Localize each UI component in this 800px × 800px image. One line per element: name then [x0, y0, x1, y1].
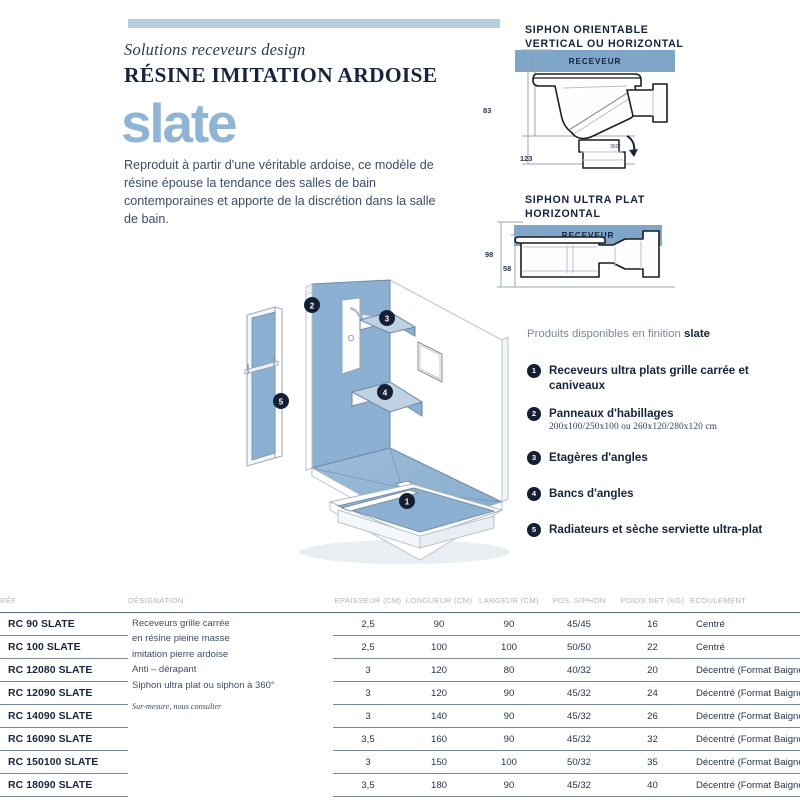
cell-poids: 20 [615, 659, 690, 682]
col-header-longueur: LONGUEUR (CM) [403, 596, 475, 613]
cell-ref: RC 12090 SLATE [0, 682, 128, 705]
cell-ecoulement: Décentré (Format Baignoire) [690, 728, 800, 751]
cell-largeur: 90 [475, 728, 543, 751]
designation-note: Sur-mesure, nous consulter [132, 693, 333, 711]
siphon-orientable-height-dim: 83 [483, 106, 491, 115]
cell-poids: 26 [615, 705, 690, 728]
legend-intro: Produits disponibles en finition slate [527, 327, 792, 343]
illustration-marker-4: 4 [377, 384, 393, 400]
cell-epaisseur: 2,5 [333, 636, 403, 659]
product-table: RÉF DÉSIGNATION EPAISSEUR (CM) LONGUEUR … [0, 596, 800, 797]
legend-badge-2: 2 [527, 407, 541, 421]
cell-longueur: 120 [403, 682, 475, 705]
svg-text:3: 3 [385, 315, 390, 324]
legend-badge-1: 1 [527, 364, 541, 378]
cell-largeur: 90 [475, 613, 543, 636]
cell-ecoulement: Décentré (Format Baignoire) [690, 774, 800, 797]
cell-ref: RC 90 SLATE [0, 613, 128, 636]
cell-pos-siphon: 45/32 [543, 705, 615, 728]
svg-text:4: 4 [383, 389, 388, 398]
cell-poids: 40 [615, 774, 690, 797]
cell-ref: RC 12080 SLATE [0, 659, 128, 682]
illustration-marker-3: 3 [379, 310, 395, 326]
cell-poids: 22 [615, 636, 690, 659]
cell-longueur: 90 [403, 613, 475, 636]
cell-longueur: 180 [403, 774, 475, 797]
siphon-orientable-width-dim: 123 [520, 154, 532, 163]
cell-ref: RC 150100 SLATE [0, 751, 128, 774]
cell-longueur: 100 [403, 636, 475, 659]
siphon-ultraplat-outer-dim: 98 [485, 250, 493, 259]
cell-epaisseur: 3 [333, 682, 403, 705]
cell-ref: RC 100 SLATE [0, 636, 128, 659]
cell-ecoulement: Décentré (Format Baignoire) [690, 659, 800, 682]
legend-intro-text: Produits disponibles en finition [527, 328, 684, 340]
col-header-ecoulement: ECOULEMENT [690, 596, 800, 613]
legend-label-3: Etagères d'angles [549, 450, 792, 465]
legend-item-4: 4 Bancs d'angles [527, 486, 792, 504]
legend-label-5: Radiateurs et sèche serviette ultra-plat [549, 522, 792, 537]
table-row[interactable]: RC 12090 SLATE 3 120 90 45/32 24 Décentr… [0, 682, 800, 705]
svg-text:2: 2 [310, 302, 315, 311]
svg-text:1: 1 [405, 498, 410, 507]
legend-label-1: Receveurs ultra plats grille carrée et c… [549, 363, 792, 393]
cell-longueur: 160 [403, 728, 475, 751]
illustration-marker-1: 1 [399, 493, 415, 509]
brand-logo: slate [121, 96, 484, 151]
table-row[interactable]: RC 150100 SLATE 3 150 100 50/32 35 Décen… [0, 751, 800, 774]
cell-ecoulement: Décentré (Format Baignoire) [690, 682, 800, 705]
cell-longueur: 140 [403, 705, 475, 728]
table-row[interactable]: RC 12080 SLATE 3 120 80 40/32 20 Décentr… [0, 659, 800, 682]
header-accent-bar [128, 19, 500, 28]
legend-badge-3: 3 [527, 451, 541, 465]
product-table-wrapper: RÉF DÉSIGNATION EPAISSEUR (CM) LONGUEUR … [0, 596, 800, 797]
cell-epaisseur: 2,5 [333, 613, 403, 636]
siphon-ultraplat-title-line1: SIPHON ULTRA PLAT [525, 194, 795, 208]
shower-illustration-svg: 2 3 4 1 5 [230, 270, 530, 570]
cell-epaisseur: 3,5 [333, 728, 403, 751]
legend-item-5: 5 Radiateurs et sèche serviette ultra-pl… [527, 522, 792, 540]
cell-epaisseur: 3 [333, 751, 403, 774]
cell-largeur: 80 [475, 659, 543, 682]
cell-ecoulement: Décentré (Format Baignoire) [690, 751, 800, 774]
cell-largeur: 100 [475, 751, 543, 774]
hero-eyebrow: Solutions receveurs design [124, 40, 484, 60]
designation-line-1: Receveurs grille carrée [132, 616, 333, 631]
siphon-orientable-diagram: SIPHON ORIENTABLE VERTICAL OU HORIZONTAL… [525, 24, 795, 184]
designation-text: Receveurs grille carrée en résine pleine… [132, 613, 333, 693]
cell-poids: 24 [615, 682, 690, 705]
legend-badge-5: 5 [527, 523, 541, 537]
table-row[interactable]: RC 16090 SLATE 3,5 160 90 45/32 32 Décen… [0, 728, 800, 751]
legend-item-1: 1 Receveurs ultra plats grille carrée et… [527, 363, 792, 393]
legend-label-2: Panneaux d'habillages [549, 406, 792, 421]
cell-pos-siphon: 45/32 [543, 682, 615, 705]
cell-pos-siphon: 50/50 [543, 636, 615, 659]
cell-largeur: 90 [475, 774, 543, 797]
shower-illustration: 2 3 4 1 5 [230, 270, 530, 570]
cell-longueur: 150 [403, 751, 475, 774]
product-table-body: RC 90 SLATE Receveurs grille carrée en r… [0, 613, 800, 797]
cell-designation: Receveurs grille carrée en résine pleine… [128, 613, 333, 797]
cell-pos-siphon: 45/32 [543, 728, 615, 751]
cell-longueur: 120 [403, 659, 475, 682]
rotation-angle-label: 360° [610, 144, 621, 150]
cell-pos-siphon: 50/32 [543, 751, 615, 774]
illustration-marker-2: 2 [304, 297, 320, 313]
product-table-head: RÉF DÉSIGNATION EPAISSEUR (CM) LONGUEUR … [0, 596, 800, 613]
legend-block: Produits disponibles en finition slate 1… [527, 327, 792, 553]
table-row[interactable]: RC 90 SLATE Receveurs grille carrée en r… [0, 613, 800, 636]
table-row[interactable]: RC 14090 SLATE 3 140 90 45/32 26 Décentr… [0, 705, 800, 728]
cell-pos-siphon: 45/45 [543, 613, 615, 636]
cell-epaisseur: 3,5 [333, 774, 403, 797]
cell-ecoulement: Centré [690, 636, 800, 659]
cell-poids: 32 [615, 728, 690, 751]
hero-block: Solutions receveurs design RÉSINE IMITAT… [124, 40, 484, 229]
table-row[interactable]: RC 18090 SLATE 3,5 180 90 45/32 40 Décen… [0, 774, 800, 797]
svg-text:5: 5 [279, 398, 284, 407]
siphon-ultra-plat-diagram: SIPHON ULTRA PLAT HORIZONTAL RECEVEUR 98 [525, 194, 795, 304]
cell-largeur: 90 [475, 682, 543, 705]
cell-ref: RC 14090 SLATE [0, 705, 128, 728]
legend-label-4: Bancs d'angles [549, 486, 792, 501]
col-header-poids-net: POIDS NET (KG) [615, 596, 690, 613]
col-header-largeur: LARGEUR (CM) [475, 596, 543, 613]
col-header-pos-siphon: POS. SIPHON [543, 596, 615, 613]
siphon-orientable-drawing [475, 44, 745, 179]
col-header-designation: DÉSIGNATION [128, 596, 333, 613]
illustration-marker-5: 5 [273, 393, 289, 409]
cell-largeur: 90 [475, 705, 543, 728]
col-header-ref: RÉF [0, 596, 128, 613]
cell-pos-siphon: 45/32 [543, 774, 615, 797]
cell-epaisseur: 3 [333, 705, 403, 728]
legend-sublabel-2: 200x100/250x100 ou 260x120/280x120 cm [549, 422, 792, 432]
designation-line-4: Anti – dérapant [132, 662, 333, 677]
legend-badge-4: 4 [527, 487, 541, 501]
hero-description: Reproduit à partir d'une véritable ardoi… [124, 157, 449, 229]
legend-item-2: 2 Panneaux d'habillages 200x100/250x100 … [527, 406, 792, 432]
siphon-orientable-title-line1: SIPHON ORIENTABLE [525, 24, 795, 38]
cell-largeur: 100 [475, 636, 543, 659]
cell-ecoulement: Décentré (Format Baignoire) [690, 705, 800, 728]
cell-poids: 35 [615, 751, 690, 774]
cell-ref: RC 16090 SLATE [0, 728, 128, 751]
designation-line-5: Siphon ultra plat ou siphon à 360° [132, 678, 333, 693]
cell-pos-siphon: 40/32 [543, 659, 615, 682]
legend-item-3: 3 Etagères d'angles [527, 450, 792, 468]
cell-epaisseur: 3 [333, 659, 403, 682]
designation-line-2: en résine pleine masse [132, 631, 333, 646]
designation-line-3: imitation pierre ardoise [132, 647, 333, 662]
cell-ref: RC 18090 SLATE [0, 774, 128, 797]
cell-ecoulement: Centré [690, 613, 800, 636]
col-header-epaisseur: EPAISSEUR (CM) [333, 596, 403, 613]
catalog-page: Solutions receveurs design RÉSINE IMITAT… [0, 0, 800, 800]
page-title: RÉSINE IMITATION ARDOISE [124, 63, 484, 88]
table-row[interactable]: RC 100 SLATE 2,5 100 100 50/50 22 Centré [0, 636, 800, 659]
product-table-header-row: RÉF DÉSIGNATION EPAISSEUR (CM) LONGUEUR … [0, 596, 800, 613]
legend-intro-brand: slate [684, 328, 710, 340]
cell-poids: 16 [615, 613, 690, 636]
